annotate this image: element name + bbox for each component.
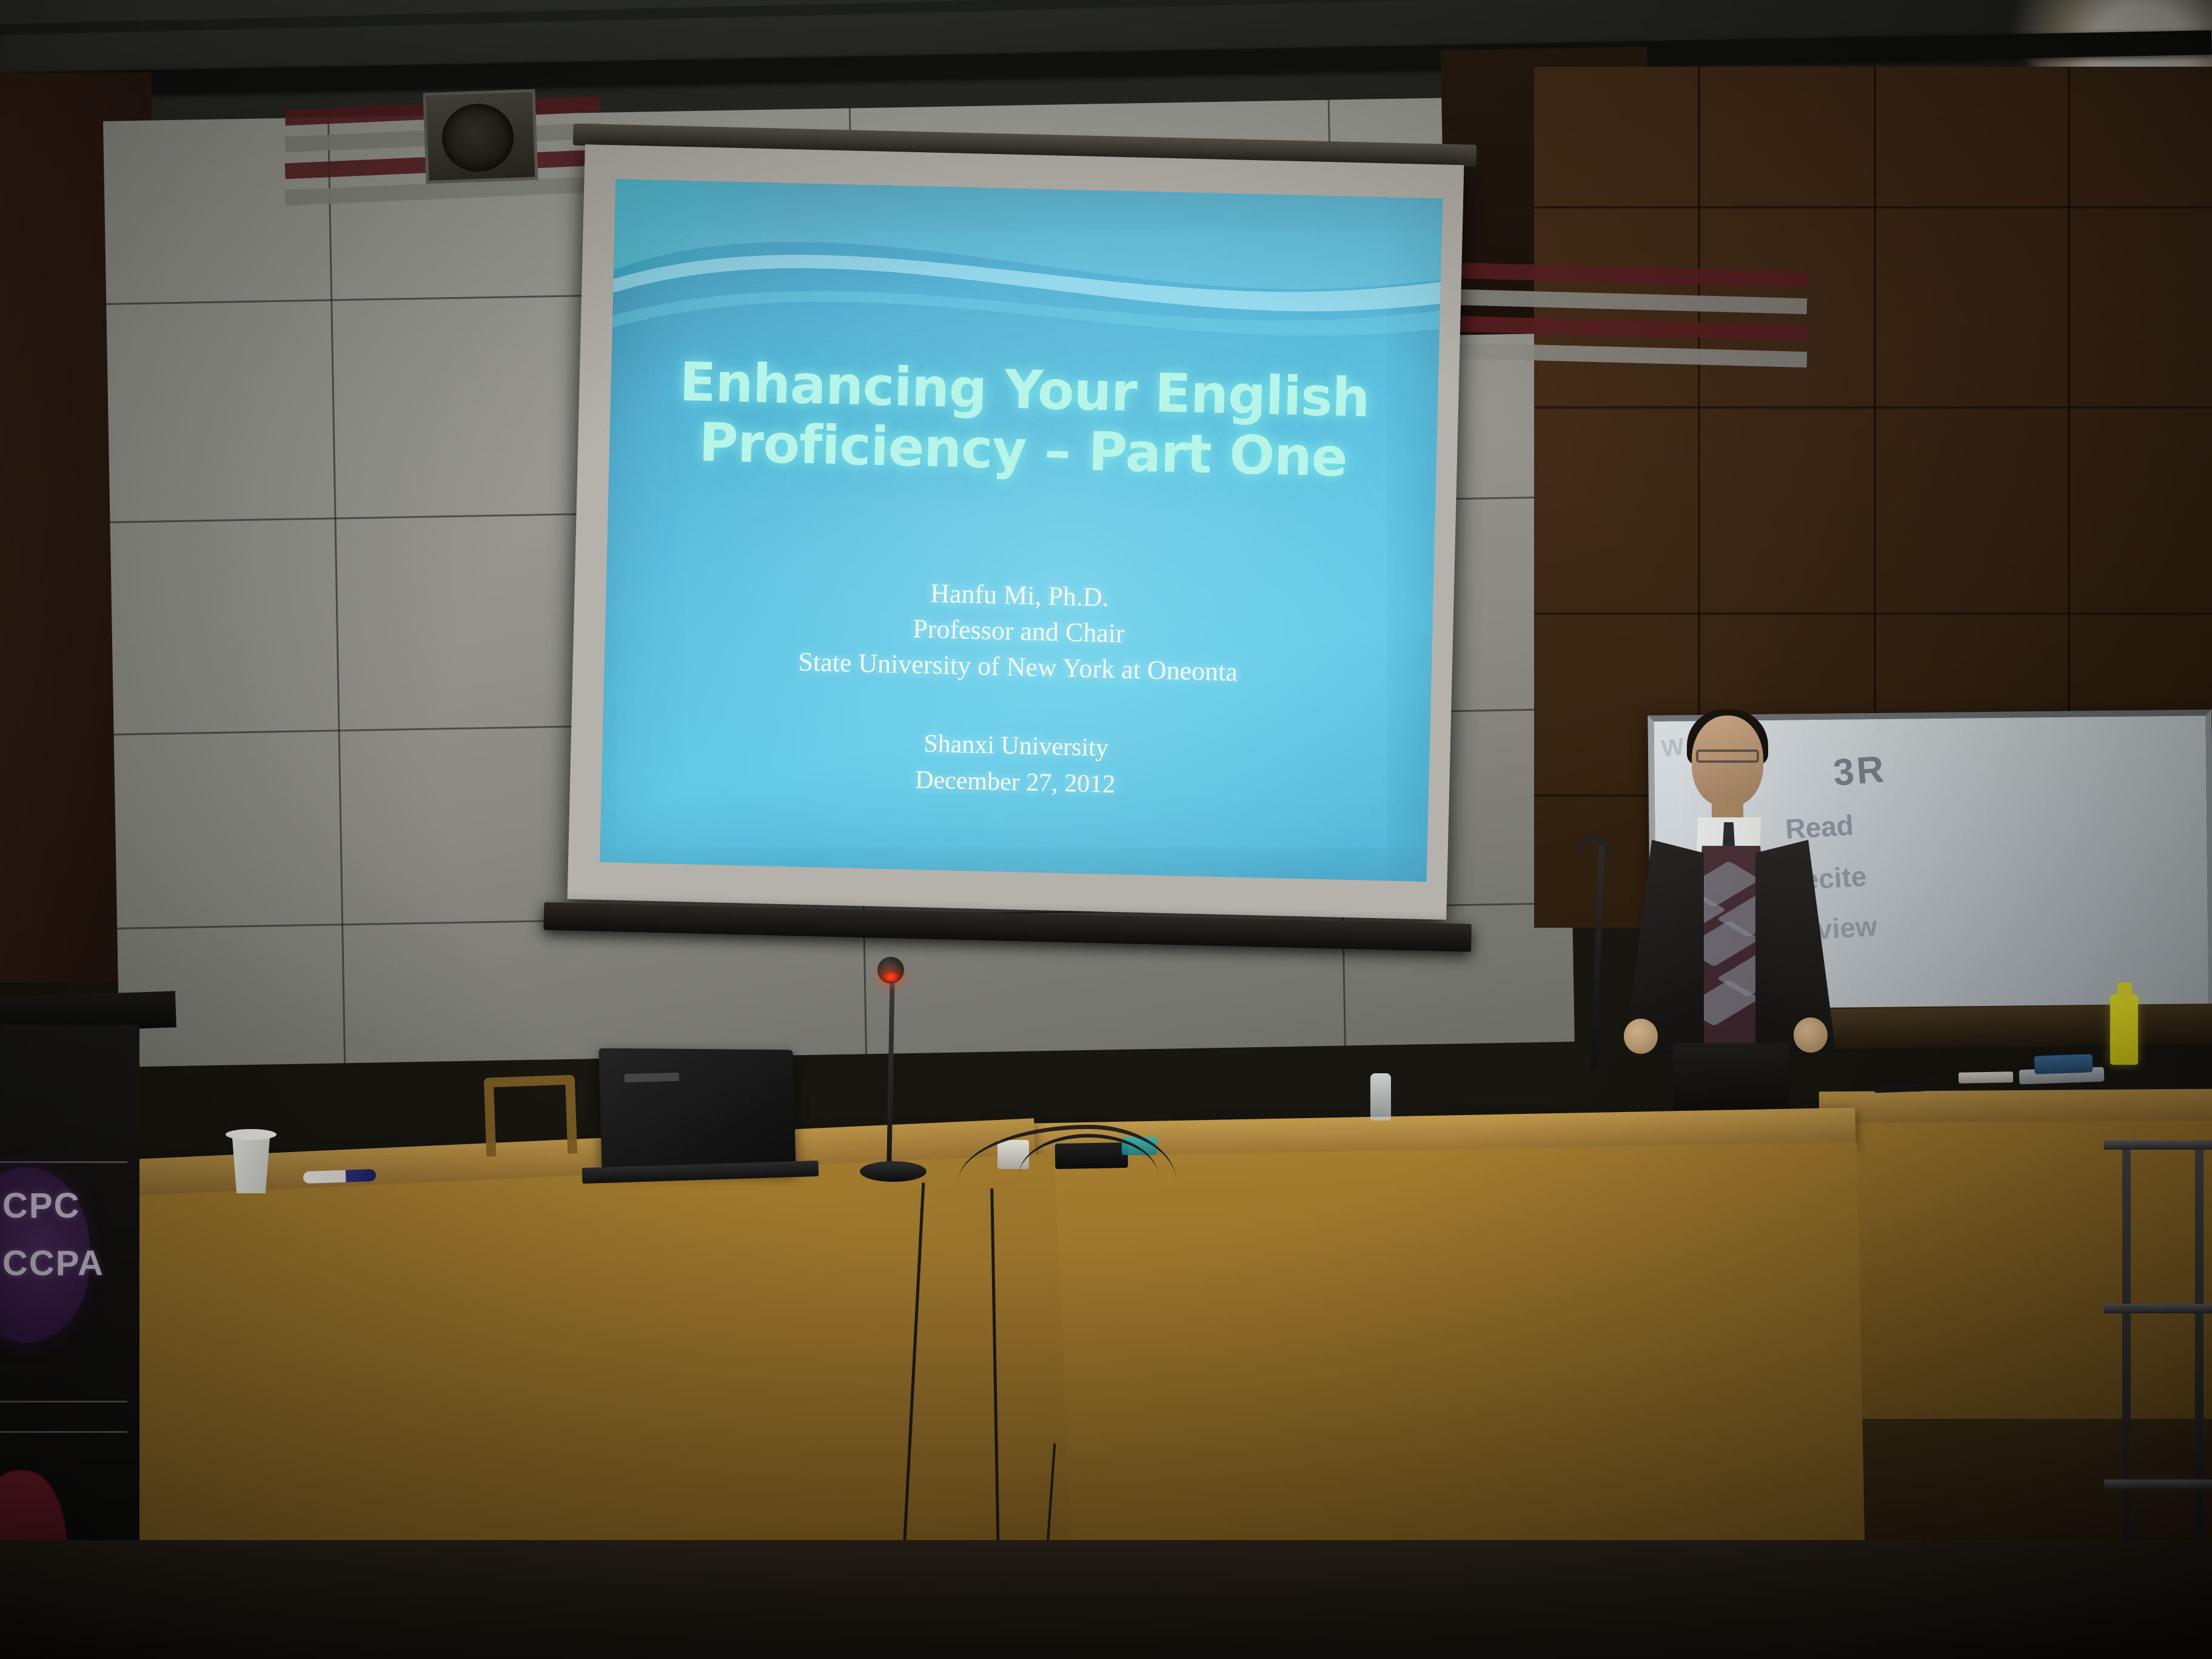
slide-surface: Enhancing Your English Proficiency – Par… bbox=[600, 179, 1443, 882]
laptop-lid bbox=[598, 1048, 796, 1171]
laptop-logo-icon bbox=[625, 1073, 679, 1082]
wooden-chair bbox=[484, 1074, 577, 1156]
cart-shelf-bottom bbox=[2104, 1480, 2212, 1489]
lecture-hall-scene: Enhancing Your English Proficiency – Par… bbox=[0, 0, 2212, 1659]
podium-edge-line-3 bbox=[0, 1431, 127, 1433]
podium-edge-line-1 bbox=[0, 1161, 127, 1163]
paper-cup-rim bbox=[226, 1129, 276, 1140]
glasses-icon bbox=[1696, 749, 1759, 763]
exhaust-fan-housing bbox=[423, 89, 538, 184]
podium-edge-line-2 bbox=[0, 1401, 127, 1403]
yellow-bottle-cap bbox=[2117, 982, 2132, 998]
projection-screen: Enhancing Your English Proficiency – Par… bbox=[568, 144, 1464, 920]
microphone-led-indicator bbox=[882, 973, 899, 981]
whiteboard-marker bbox=[303, 1169, 377, 1184]
presenter-hand-right bbox=[1794, 1017, 1828, 1053]
cart-shelf-middle bbox=[2104, 1304, 2212, 1313]
fan-icon bbox=[441, 102, 515, 173]
metal-shelf-cart bbox=[2104, 1140, 2212, 1564]
presenter-trousers bbox=[1674, 1043, 1789, 1116]
cart-post-left bbox=[2122, 1140, 2131, 1564]
yellow-spray-bottle bbox=[2110, 994, 2138, 1065]
water-bottle bbox=[1370, 1073, 1391, 1121]
floor bbox=[0, 1540, 2212, 1659]
slide-presenter-block: Hanfu Mi, Ph.D. Professor and Chair Stat… bbox=[670, 570, 1367, 694]
stage-ledge bbox=[1807, 1004, 2212, 1050]
slide-title: Enhancing Your English Proficiency – Par… bbox=[675, 352, 1372, 489]
podium-banner-line-1: CPC bbox=[2, 1185, 124, 1226]
microphone-base bbox=[860, 1161, 927, 1182]
podium-banner-line-2: CCPA bbox=[2, 1243, 124, 1284]
right-desk-eraser bbox=[1959, 1071, 2013, 1084]
cart-shelf-top bbox=[2104, 1140, 2212, 1150]
right-desk-blue-item bbox=[2034, 1054, 2093, 1074]
cart-post-right bbox=[2195, 1140, 2204, 1564]
presenter-hand-left bbox=[1624, 1019, 1658, 1054]
presenter-figure bbox=[1601, 716, 1855, 1091]
